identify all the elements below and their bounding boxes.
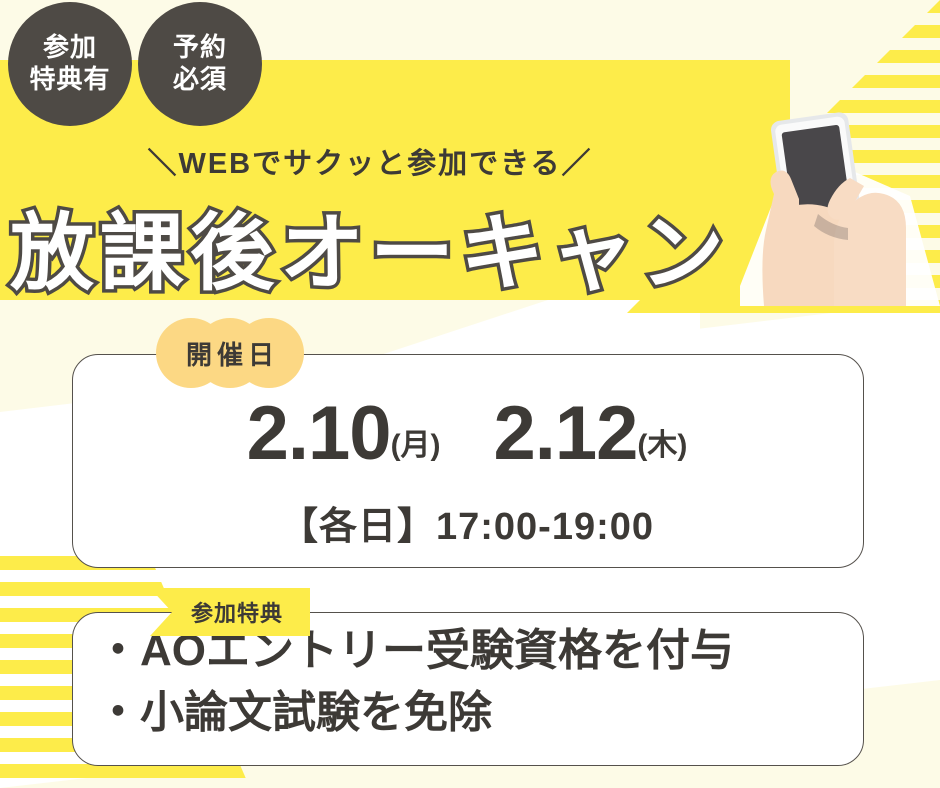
event-dates: 2.10(月) 2.12(木) [72, 390, 862, 477]
badge-line-2: 必須 [173, 64, 227, 96]
badge-reservation-required: 予約 必須 [138, 2, 262, 126]
event-time: 【各日】17:00-19:00 [72, 495, 862, 550]
page-title: 放課後オーキャン [0, 186, 740, 307]
event-date-second-dow: (木) [637, 429, 687, 462]
smartphone-hand-icon [700, 86, 940, 306]
date-section-label-text: 開催日 [156, 335, 304, 372]
badge-line-1: 予約 [173, 32, 227, 64]
badge-line-2: 特典有 [29, 64, 110, 96]
event-date-first: 2.10(月) [247, 390, 441, 477]
event-date-first-dow: (月) [391, 429, 441, 462]
promo-banner: 参加 特典有 予約 必須 ＼WEBでサクッと参加できる／ 放課後オーキャン [0, 0, 940, 788]
header-subtitle: ＼WEBでサクッと参加できる／ [0, 140, 740, 182]
event-date-first-number: 2.10 [247, 391, 391, 476]
badge-group: 参加 特典有 予約 必須 [8, 2, 262, 126]
badge-participation-benefit: 参加 特典有 [8, 2, 132, 126]
event-date-second: 2.12(木) [493, 390, 687, 477]
list-item: ・小論文試験を免除 [96, 682, 856, 744]
benefit-section-label: 参加特典 [150, 588, 310, 636]
benefit-list: ・AOエントリー受験資格を付与 ・小論文試験を免除 [96, 620, 856, 745]
stripe [0, 764, 250, 778]
benefit-section-label-text: 参加特典 [177, 596, 283, 628]
date-section-label: 開催日 [156, 318, 304, 388]
badge-line-1: 参加 [43, 32, 97, 64]
event-date-second-number: 2.12 [493, 391, 637, 476]
